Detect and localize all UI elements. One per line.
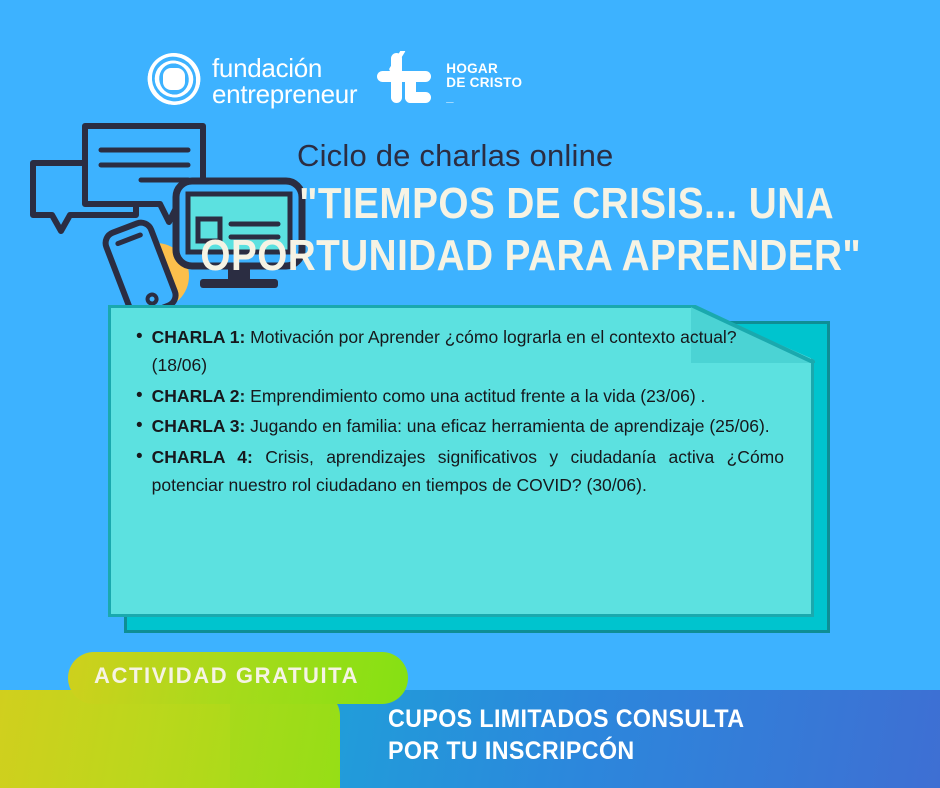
page-title-line-2: OPORTUNIDAD PARA APRENDER" bbox=[200, 230, 834, 282]
bullet-icon: • bbox=[136, 382, 143, 411]
logo-line-1: fundación bbox=[212, 56, 357, 81]
bullet-icon: • bbox=[136, 412, 143, 441]
charla-content: CHARLA 3: Jugando en familia: una eficaz… bbox=[152, 412, 784, 440]
logo-hogar-de-cristo: HOGAR DE CRISTO _ bbox=[375, 51, 522, 112]
page-title: "TIEMPOS DE CRISIS... UNA OPORTUNIDAD PA… bbox=[200, 178, 834, 282]
charla-content: CHARLA 2: Emprendimiento como una actitu… bbox=[152, 382, 784, 410]
logo-fundacion-entrepreneur: fundación entrepreneur bbox=[145, 50, 357, 113]
cta-line-2: POR TU INSCRIPCÓN bbox=[388, 735, 744, 767]
list-item: • CHARLA 4: Crisis, aprendizajes signifi… bbox=[136, 443, 784, 500]
logo-bar: fundación entrepreneur bbox=[145, 50, 522, 113]
charla-label: CHARLA 1: bbox=[152, 327, 246, 347]
hogar-de-cristo-wordmark: HOGAR DE CRISTO _ bbox=[446, 62, 522, 100]
list-item: • CHARLA 1: Motivación por Aprender ¿cóm… bbox=[136, 323, 784, 380]
bullet-icon: • bbox=[136, 443, 143, 472]
page-subtitle: Ciclo de charlas online bbox=[297, 138, 614, 174]
charla-label: CHARLA 2: bbox=[152, 386, 246, 406]
charlas-list: • CHARLA 1: Motivación por Aprender ¿cóm… bbox=[108, 305, 814, 617]
logo-line-2: DE CRISTO bbox=[446, 76, 522, 90]
tc-monogram-icon bbox=[375, 51, 437, 112]
logo-line-1: HOGAR bbox=[446, 62, 522, 76]
page-title-line-1: "TIEMPOS DE CRISIS... UNA bbox=[200, 178, 834, 230]
list-item: • CHARLA 2: Emprendimiento como una acti… bbox=[136, 382, 784, 411]
cta-line-1: CUPOS LIMITADOS CONSULTA bbox=[388, 703, 744, 735]
charla-label: CHARLA 3: bbox=[152, 416, 246, 436]
logo-line-2: entrepreneur bbox=[212, 82, 357, 107]
footer-green-tab bbox=[230, 690, 340, 788]
fundacion-entrepreneur-wordmark: fundación entrepreneur bbox=[212, 56, 357, 107]
poster-canvas: fundación entrepreneur bbox=[0, 0, 940, 788]
charla-description: Emprendimiento como una actitud frente a… bbox=[245, 386, 705, 406]
concentric-rings-icon bbox=[145, 50, 203, 113]
free-activity-label: ACTIVIDAD GRATUITA bbox=[94, 663, 359, 689]
list-item: • CHARLA 3: Jugando en familia: una efic… bbox=[136, 412, 784, 441]
smartphone-icon bbox=[102, 219, 178, 313]
charla-label: CHARLA 4: bbox=[152, 447, 253, 467]
charla-content: CHARLA 4: Crisis, aprendizajes significa… bbox=[152, 443, 784, 500]
charla-description: Jugando en familia: una eficaz herramien… bbox=[245, 416, 769, 436]
bullet-icon: • bbox=[136, 323, 143, 352]
call-to-action: CUPOS LIMITADOS CONSULTA POR TU INSCRIPC… bbox=[388, 703, 744, 767]
charla-content: CHARLA 1: Motivación por Aprender ¿cómo … bbox=[152, 323, 784, 380]
logo-underscore: _ bbox=[446, 93, 522, 101]
